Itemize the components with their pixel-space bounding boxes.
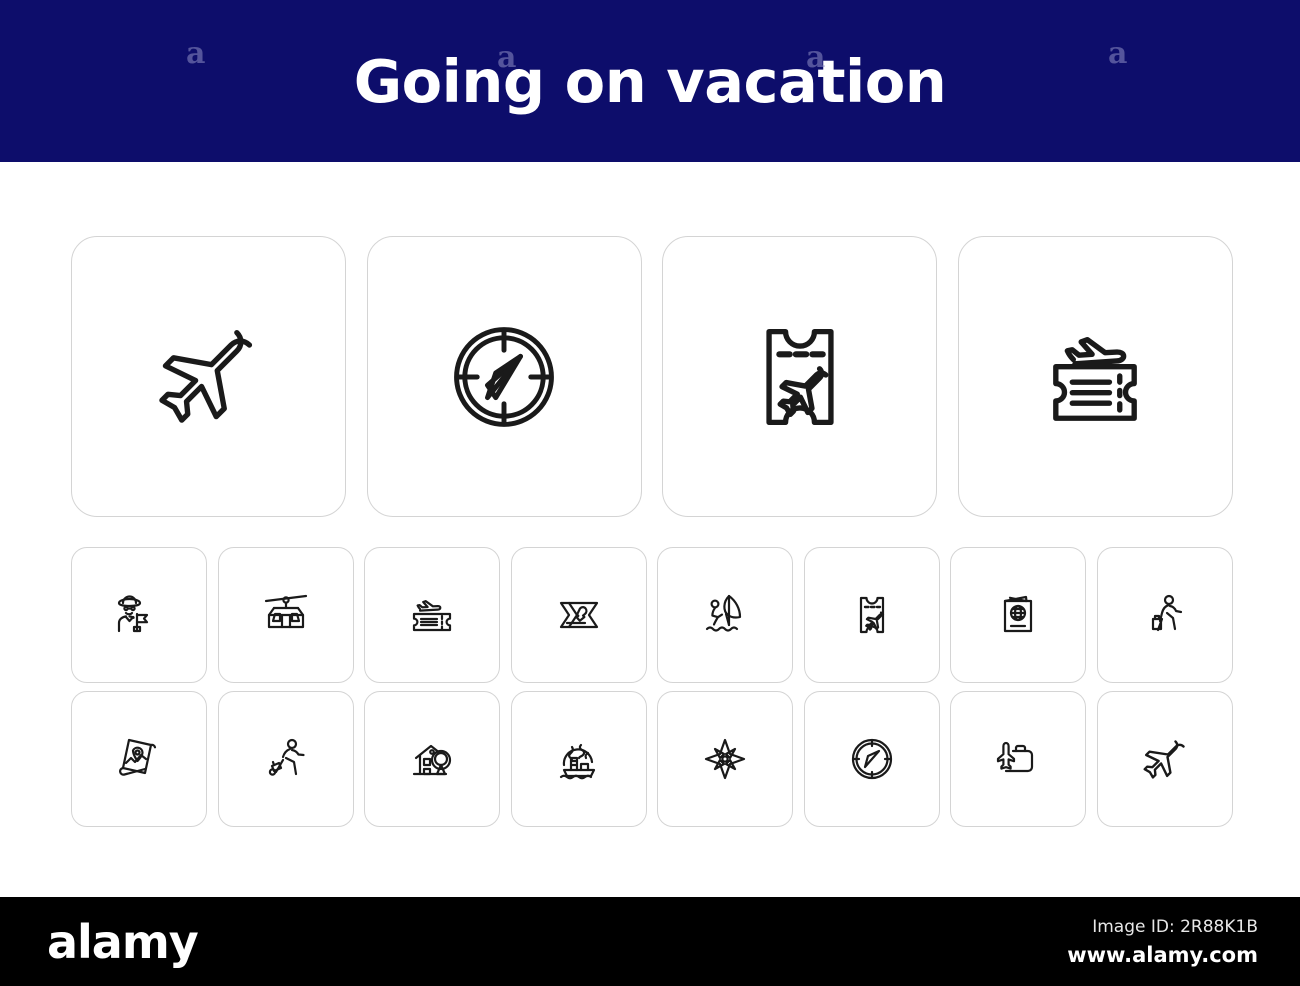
map-pin-scroll-icon: [107, 727, 171, 791]
tour-guide-icon: [107, 583, 171, 647]
icon-card-compass-rose[interactable]: [657, 691, 793, 827]
icon-card-traveler-walking[interactable]: [1097, 547, 1233, 683]
passport-stamp-icon: [547, 583, 611, 647]
windsurfing-icon: [693, 583, 757, 647]
airplane-small-icon: [1133, 727, 1197, 791]
icon-card-cable-car[interactable]: [218, 547, 354, 683]
icon-card-plane-luggage[interactable]: [950, 691, 1086, 827]
cable-car-icon: [254, 583, 318, 647]
boarding-pass-plane-icon: [400, 583, 464, 647]
plane-luggage-icon: [986, 727, 1050, 791]
icon-card-passport[interactable]: [950, 547, 1086, 683]
cruise-globe-icon: [547, 727, 611, 791]
icon-card-plane-ticket[interactable]: [662, 236, 937, 517]
boarding-pass-icon: [1029, 311, 1161, 443]
icon-card-boarding-pass[interactable]: [958, 236, 1233, 517]
icon-row-1: [71, 547, 1233, 683]
icon-card-airplane-small[interactable]: [1097, 691, 1233, 827]
image-id-label: Image ID: 2R88K1B: [1092, 917, 1258, 937]
icon-card-tour-guide[interactable]: [71, 547, 207, 683]
icon-card-traveler-running[interactable]: [218, 691, 354, 827]
footer-bar: alamy Image ID: 2R88K1B www.alamy.com: [0, 897, 1300, 986]
icon-board: [0, 162, 1300, 897]
compass-icon: [438, 311, 570, 443]
icon-card-boarding-pass-plane[interactable]: [364, 547, 500, 683]
icon-card-cruise-globe[interactable]: [511, 691, 647, 827]
house-location-icon: [400, 727, 464, 791]
icon-card-airplane[interactable]: [71, 236, 346, 517]
icon-card-compass[interactable]: [367, 236, 642, 517]
icon-card-flight-ticket[interactable]: [804, 547, 940, 683]
page-banner: Going on vacation: [0, 0, 1300, 162]
icon-row-2: [71, 691, 1233, 827]
alamy-logo: alamy: [47, 919, 198, 965]
airplane-icon: [143, 311, 275, 443]
icon-card-windsurfing[interactable]: [657, 547, 793, 683]
page-title: Going on vacation: [354, 52, 947, 111]
traveler-running-icon: [254, 727, 318, 791]
compass-rose-icon: [693, 727, 757, 791]
traveler-walking-icon: [1133, 583, 1197, 647]
icon-card-map-pin-scroll[interactable]: [71, 691, 207, 827]
featured-row: [71, 236, 1233, 517]
compass-round-icon: [840, 727, 904, 791]
icon-card-passport-stamp[interactable]: [511, 547, 647, 683]
icon-card-compass-round[interactable]: [804, 691, 940, 827]
passport-icon: [986, 583, 1050, 647]
icon-card-house-location[interactable]: [364, 691, 500, 827]
plane-ticket-icon: [734, 311, 866, 443]
flight-ticket-icon: [840, 583, 904, 647]
alamy-url[interactable]: www.alamy.com: [1067, 943, 1258, 967]
